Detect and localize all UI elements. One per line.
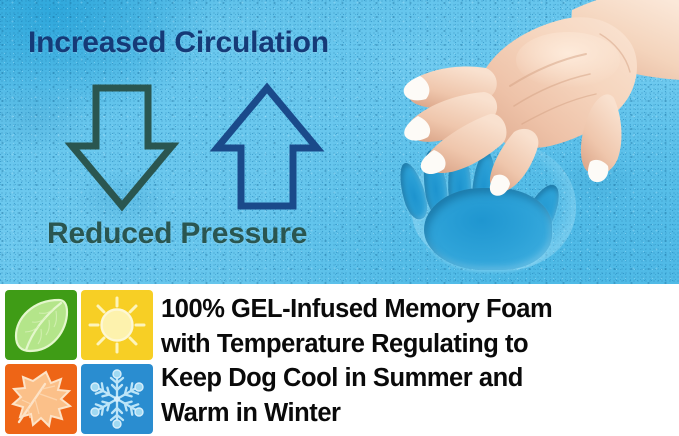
increased-circulation-label: Increased Circulation xyxy=(28,26,329,60)
snowflake-center xyxy=(114,396,120,402)
reduced-pressure-label: Reduced Pressure xyxy=(47,217,307,251)
season-tile-winter xyxy=(81,364,153,434)
feature-text-block: 100% GEL-Infused Memory Foam with Temper… xyxy=(161,292,677,430)
season-tile-spring xyxy=(5,290,77,360)
season-icon-grid xyxy=(5,290,155,434)
sun-icon xyxy=(81,290,153,360)
feature-text-line: 100% GEL-Infused Memory Foam xyxy=(161,292,677,327)
season-tile-summer xyxy=(81,290,153,360)
up-arrow-icon xyxy=(207,80,327,212)
feature-text-line: Keep Dog Cool in Summer and xyxy=(161,361,677,396)
season-tile-autumn xyxy=(5,364,77,434)
memory-foam-photo: Increased Circulation Reduced Pressure xyxy=(0,0,679,284)
product-feature-image: Increased Circulation Reduced Pressure xyxy=(0,0,679,436)
leaf-icon xyxy=(5,290,77,360)
feature-text-line: with Temperature Regulating to xyxy=(161,327,677,362)
hand-pressing-foam xyxy=(390,0,679,206)
maple-leaf-icon xyxy=(5,364,77,434)
feature-info-panel: 100% GEL-Infused Memory Foam with Temper… xyxy=(0,284,679,436)
feature-text-line: Warm in Winter xyxy=(161,396,677,431)
down-arrow-icon xyxy=(62,82,182,214)
snowflake-icon xyxy=(81,364,153,434)
